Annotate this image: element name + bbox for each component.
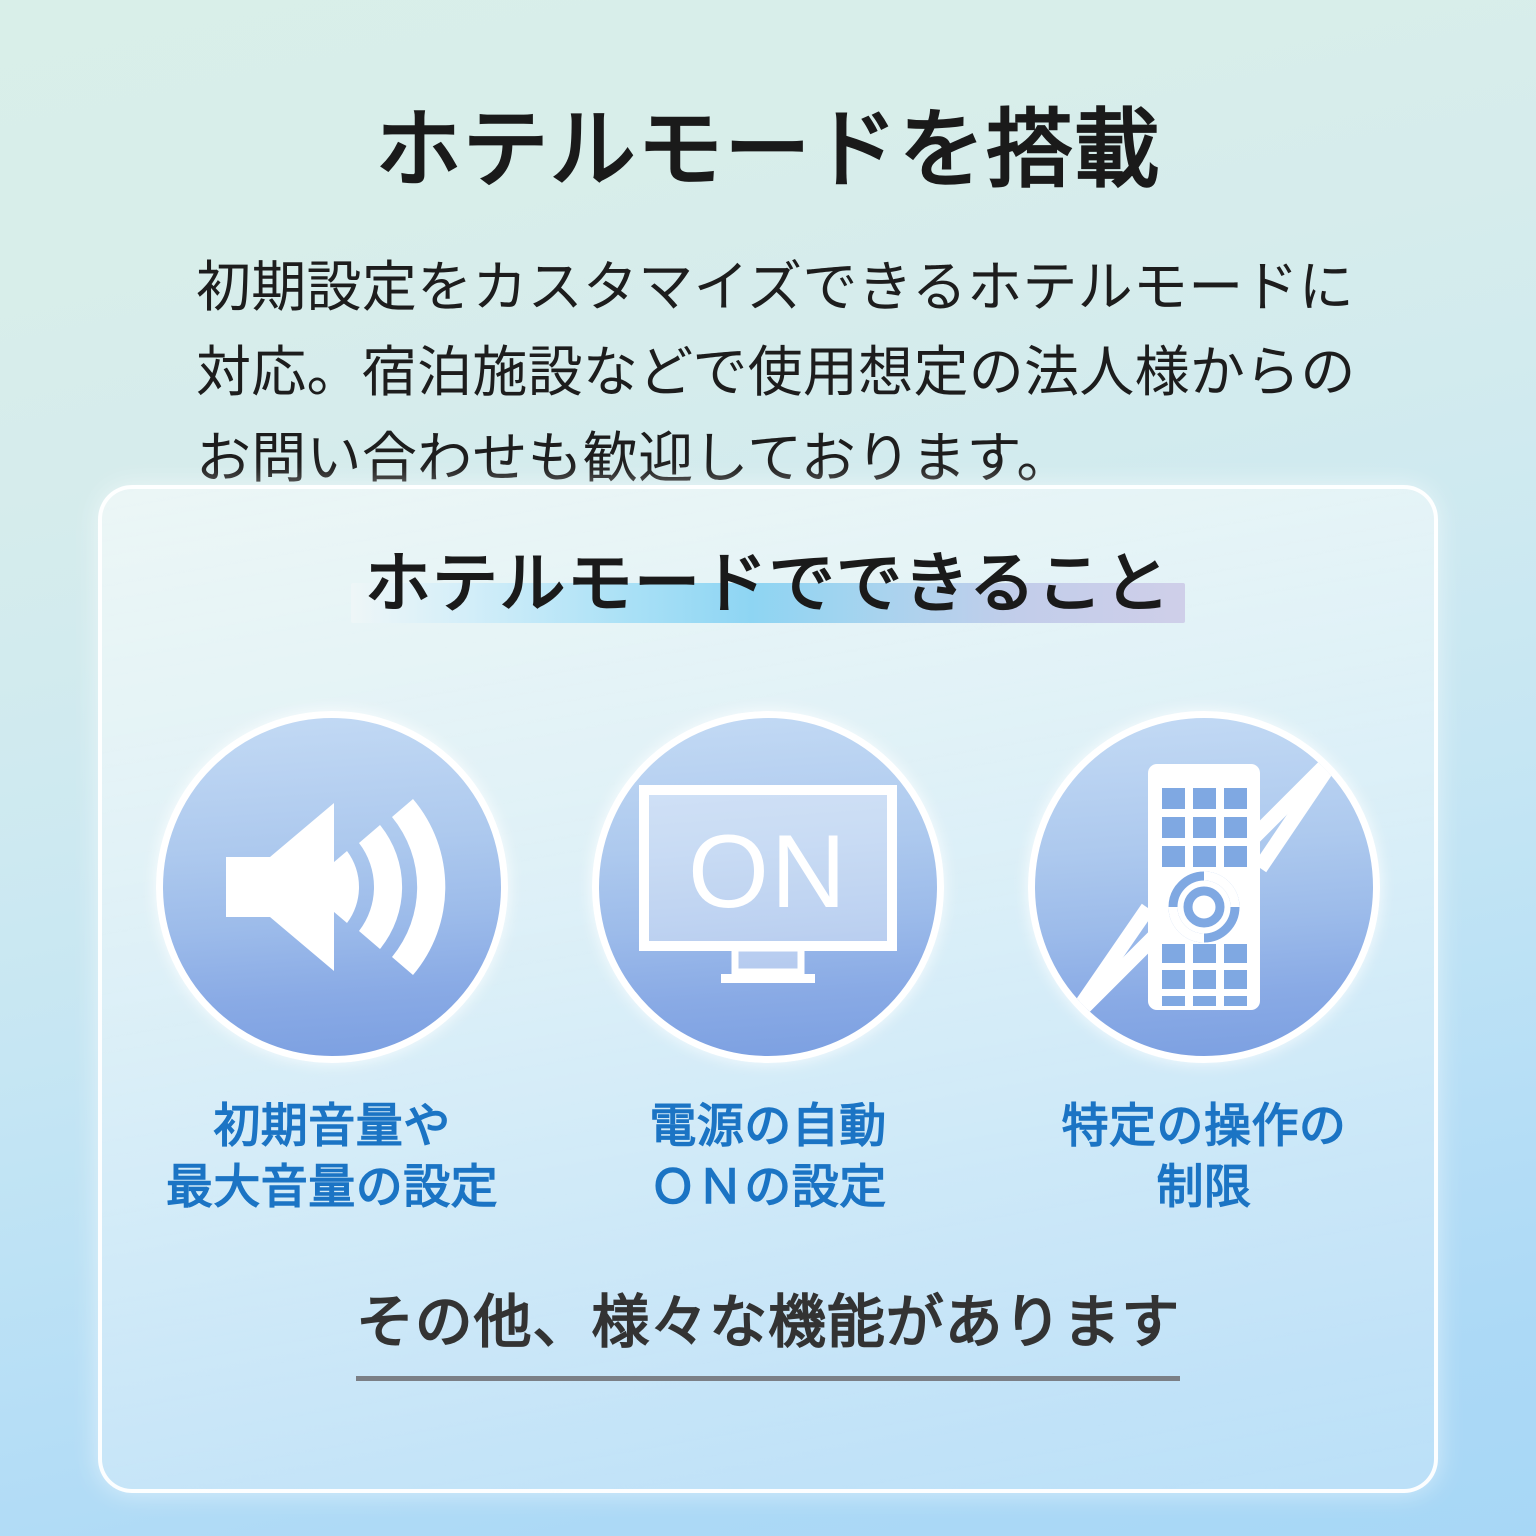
tv-power-on-icon: ON xyxy=(639,785,897,989)
feature-label-line1: 特定の操作の xyxy=(1062,1099,1347,1152)
remote-control-prohibited-icon xyxy=(1035,718,1373,1056)
feature-label-line1: 初期音量や xyxy=(213,1099,450,1152)
feature-label-line2: 最大音量の設定 xyxy=(166,1156,498,1217)
feature-label-line2: 制限 xyxy=(1062,1156,1347,1217)
card-heading-container: ホテルモードでできること xyxy=(102,547,1434,629)
volume-speaker-icon xyxy=(214,787,450,987)
tv-screen-text: ON xyxy=(688,814,848,930)
feature-icon-circle xyxy=(1028,711,1380,1063)
lead-paragraph: 初期設定をカスタマイズできるホテルモードに対応。宿泊施設などで使用想定の法人様か… xyxy=(196,245,1356,501)
feature-label-line1: 電源の自動 xyxy=(649,1099,886,1152)
hotel-mode-card: ホテルモードでできること 初期音量や xyxy=(98,485,1438,1493)
feature-icon-circle xyxy=(156,711,508,1063)
feature-list: 初期音量や 最大音量の設定 ON xyxy=(102,711,1434,1217)
footer-note-container: その他、様々な機能があります xyxy=(102,1288,1434,1381)
feature-item-volume: 初期音量や 最大音量の設定 xyxy=(156,711,508,1217)
feature-label: 初期音量や 最大音量の設定 xyxy=(166,1095,498,1217)
card-heading: ホテルモードでできること xyxy=(351,547,1186,629)
page-title: ホテルモードを搭載 xyxy=(0,100,1536,201)
feature-label: 電源の自動 ＯＮの設定 xyxy=(649,1095,886,1217)
feature-item-power-on: ON 電源の自動 ＯＮの設定 xyxy=(592,711,944,1217)
promo-page: ホテルモードを搭載 初期設定をカスタマイズできるホテルモードに対応。宿泊施設など… xyxy=(0,0,1536,1536)
feature-item-restriction: 特定の操作の 制限 xyxy=(1028,711,1380,1217)
card-heading-text: ホテルモードでできること xyxy=(365,546,1172,620)
feature-icon-circle: ON xyxy=(592,711,944,1063)
feature-label-line2: ＯＮの設定 xyxy=(649,1156,886,1217)
feature-label: 特定の操作の 制限 xyxy=(1062,1095,1347,1217)
footer-note: その他、様々な機能があります xyxy=(356,1288,1180,1381)
